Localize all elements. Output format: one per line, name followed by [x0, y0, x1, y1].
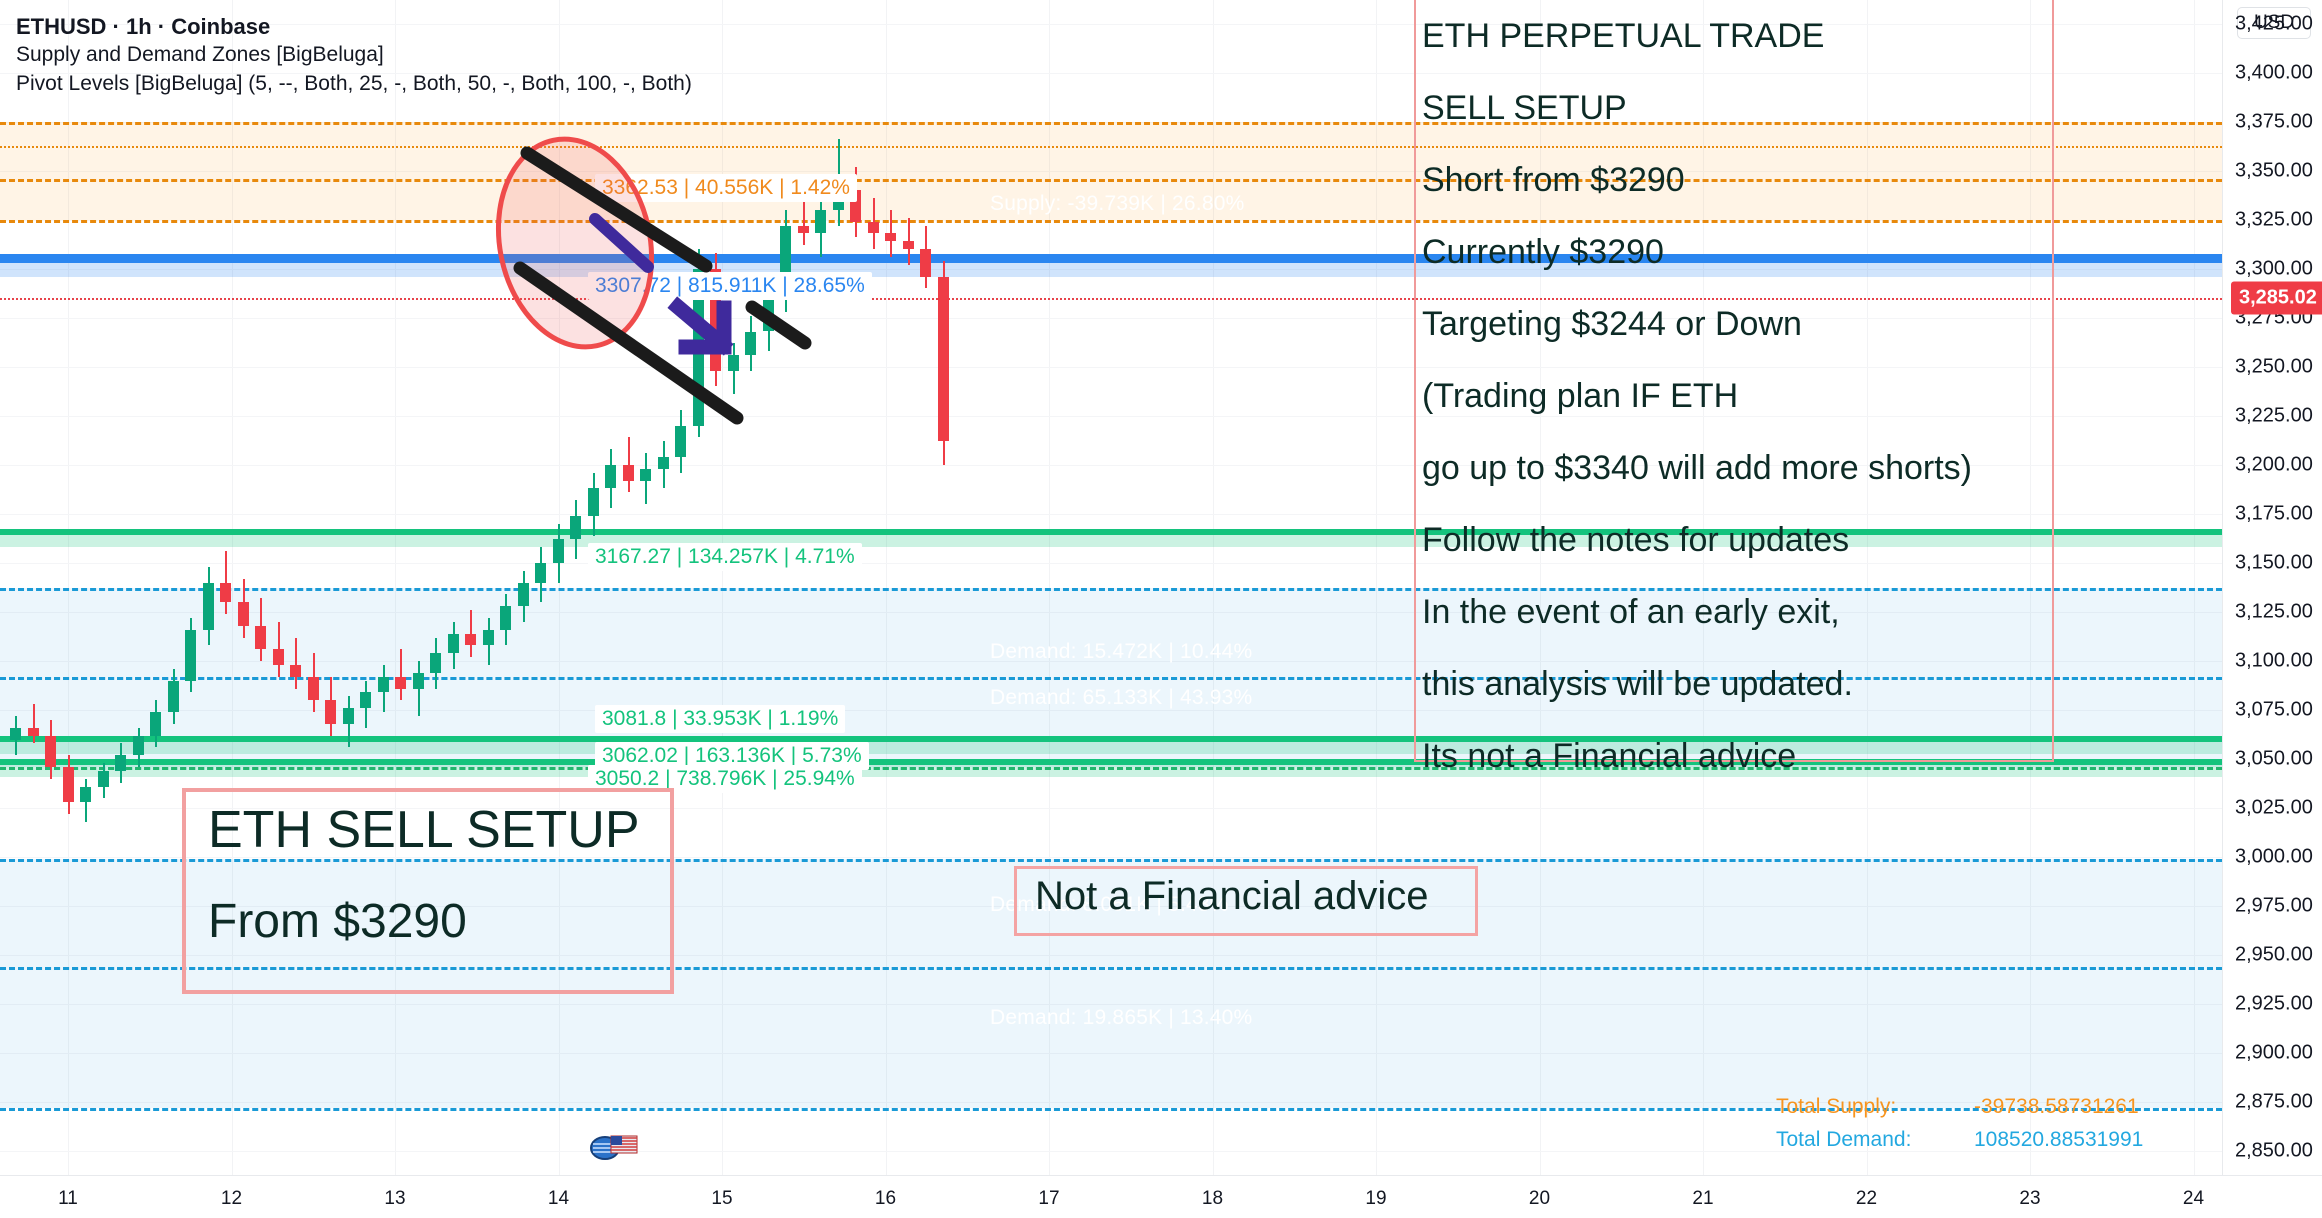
candle-wick	[400, 649, 402, 700]
trade-note-line: Its not a Financial advice	[1422, 720, 1972, 792]
candle-body	[98, 771, 109, 787]
trade-notes-block: ETH PERPETUAL TRADESELL SETUPShort from …	[1422, 0, 1972, 792]
trade-note-line: (Trading plan IF ETH	[1422, 360, 1972, 432]
total-supply-label: Total Supply:	[1776, 1090, 1956, 1124]
legend-indicator-pivot-levels[interactable]: Pivot Levels [BigBeluga] (5, --, Both, 2…	[16, 70, 692, 98]
trade-note-line: this analysis will be updated.	[1422, 648, 1972, 720]
candle-body	[868, 222, 879, 234]
time-tick-label: 11	[58, 1188, 78, 1210]
trade-note-line: Currently $3290	[1422, 216, 1972, 288]
candle-body	[535, 563, 546, 583]
price-tick-label: 3,225.00	[2235, 404, 2313, 427]
candle-body	[640, 469, 651, 481]
price-tick-label: 3,300.00	[2235, 257, 2313, 280]
supply-zone-label: Supply: -39.739K | 26.80%	[990, 192, 1244, 216]
price-tick-label: 3,025.00	[2235, 797, 2313, 820]
trade-note-line: In the event of an early exit,	[1422, 576, 1972, 648]
time-tick-label: 15	[711, 1188, 732, 1210]
time-tick-label: 14	[548, 1188, 569, 1210]
price-tick-label: 2,850.00	[2235, 1140, 2313, 1163]
price-tick-label: 2,950.00	[2235, 944, 2313, 967]
candle-body	[448, 634, 459, 654]
time-tick-label: 23	[2019, 1188, 2040, 1210]
candle-body	[133, 736, 144, 756]
price-tick-label: 3,350.00	[2235, 159, 2313, 182]
price-tick-label: 3,250.00	[2235, 355, 2313, 378]
candle-body	[203, 583, 214, 630]
candle-body	[115, 755, 126, 771]
price-tick-label: 2,975.00	[2235, 895, 2313, 918]
price-axis[interactable]: USD 3,425.003,400.003,375.003,350.003,32…	[2222, 0, 2322, 1175]
disclaimer-text: Not a Financial advice	[1035, 874, 1429, 919]
candle-body	[570, 516, 581, 540]
time-tick-label: 20	[1529, 1188, 1550, 1210]
trade-note-line: Short from $3290	[1422, 144, 1972, 216]
candle-body	[938, 277, 949, 442]
time-tick-label: 22	[1856, 1188, 1877, 1210]
candle-body	[308, 677, 319, 701]
candle-body	[553, 539, 564, 563]
candle-body	[10, 728, 21, 740]
candle-body	[798, 226, 809, 234]
candle-body	[45, 736, 56, 767]
time-tick-label: 19	[1365, 1188, 1386, 1210]
price-tick-label: 3,325.00	[2235, 208, 2313, 231]
candle-body	[413, 673, 424, 689]
pivot-level-label: 3081.8 | 33.953K | 1.19%	[595, 705, 845, 733]
totals-panel: Total Supply: -39738.58731261 Total Dema…	[1776, 1090, 2204, 1157]
trade-note-line: ETH PERPETUAL TRADE	[1422, 0, 1972, 72]
time-tick-label: 12	[221, 1188, 242, 1210]
chart-plot-area[interactable]: Supply: -39.739K | 26.80%Demand: 15.472K…	[0, 0, 2222, 1175]
demand-zone-label: Demand: 65.133K | 43.93%	[990, 686, 1252, 710]
sell-setup-line1: ETH SELL SETUP	[208, 800, 640, 860]
price-tick-label: 3,400.00	[2235, 61, 2313, 84]
trade-note-line: Follow the notes for updates	[1422, 504, 1972, 576]
candle-body	[728, 355, 739, 371]
price-tick-label: 3,075.00	[2235, 699, 2313, 722]
time-tick-label: 18	[1202, 1188, 1223, 1210]
price-tick-label: 3,125.00	[2235, 601, 2313, 624]
time-tick-label: 24	[2183, 1188, 2204, 1210]
candle-body	[255, 626, 266, 650]
tradingview-chart-screen: Supply: -39.739K | 26.80%Demand: 15.472K…	[0, 0, 2322, 1217]
price-tick-label: 2,875.00	[2235, 1091, 2313, 1114]
candle-body	[605, 465, 616, 489]
candle-body	[28, 728, 39, 736]
candle-body	[325, 700, 336, 724]
flag-logo-icon	[585, 1128, 641, 1164]
demand-zone-label: Demand: 15.472K | 10.44%	[990, 640, 1252, 664]
price-tick-label: 2,925.00	[2235, 993, 2313, 1016]
demand-zone-label: Demand: 19.865K | 13.40%	[990, 1006, 1252, 1030]
pivot-level-label: 3307.72 | 815.911K | 28.65%	[588, 272, 872, 300]
time-axis[interactable]: 1112131415161718192021222324	[0, 1175, 2322, 1218]
price-tick-label: 3,100.00	[2235, 650, 2313, 673]
sell-setup-callout-box: ETH SELL SETUP From $3290	[182, 788, 674, 994]
candle-body	[483, 630, 494, 646]
candle-body	[763, 296, 774, 331]
sell-setup-line2: From $3290	[208, 894, 467, 949]
candle-body	[168, 681, 179, 712]
candle-body	[815, 210, 826, 234]
candle-body	[395, 677, 406, 689]
price-tick-label: 3,200.00	[2235, 453, 2313, 476]
total-demand-row: Total Demand: 108520.88531991	[1776, 1123, 2204, 1157]
candle-body	[885, 233, 896, 241]
candle-wick	[33, 704, 35, 743]
candle-body	[63, 767, 74, 802]
candle-body	[675, 426, 686, 457]
candle-body	[185, 630, 196, 681]
candle-body	[518, 583, 529, 607]
price-tick-label: 3,375.00	[2235, 110, 2313, 133]
price-tick-label: 3,175.00	[2235, 502, 2313, 525]
legend-symbol[interactable]: ETHUSD · 1h · Coinbase	[16, 12, 692, 41]
price-tick-label: 2,900.00	[2235, 1042, 2313, 1065]
candle-body	[238, 602, 249, 626]
price-tick-label: 3,050.00	[2235, 748, 2313, 771]
candle-body	[290, 665, 301, 677]
candle-body	[903, 241, 914, 249]
candle-body	[378, 677, 389, 693]
candle-body	[360, 692, 371, 708]
trade-note-line: SELL SETUP	[1422, 72, 1972, 144]
candle-body	[80, 787, 91, 803]
legend-indicator-supply-demand[interactable]: Supply and Demand Zones [BigBeluga]	[16, 41, 692, 69]
candle-body	[588, 488, 599, 515]
disclaimer-callout-box: Not a Financial advice	[1014, 866, 1478, 936]
time-tick-label: 17	[1038, 1188, 1059, 1210]
price-tick-label: 3,150.00	[2235, 551, 2313, 574]
price-tick-label: 3,425.00	[2235, 12, 2313, 35]
candle-body	[150, 712, 161, 736]
candle-body	[745, 332, 756, 356]
candle-body	[343, 708, 354, 724]
pivot-level-label: 3167.27 | 134.257K | 4.71%	[588, 543, 862, 571]
candle-body	[623, 465, 634, 481]
candle-body	[273, 649, 284, 665]
trade-note-line: Targeting $3244 or Down	[1422, 288, 1972, 360]
total-demand-label: Total Demand:	[1776, 1123, 1956, 1157]
candle-body	[500, 606, 511, 630]
time-tick-label: 16	[875, 1188, 896, 1210]
candle-body	[465, 634, 476, 646]
time-tick-label: 13	[384, 1188, 405, 1210]
candle-body	[920, 249, 931, 276]
time-tick-label: 21	[1692, 1188, 1713, 1210]
total-supply-row: Total Supply: -39738.58731261	[1776, 1090, 2204, 1124]
total-demand-value: 108520.88531991	[1974, 1123, 2204, 1157]
price-tick-label: 3,000.00	[2235, 846, 2313, 869]
candle-body	[220, 583, 231, 603]
chart-legend: ETHUSD · 1h · Coinbase Supply and Demand…	[16, 12, 692, 98]
pivot-level-label: 3362.53 | 40.556K | 1.42%	[595, 174, 857, 202]
current-price-badge[interactable]: 3,285.02	[2231, 282, 2322, 315]
candle-wick	[295, 638, 297, 689]
candle-body	[430, 653, 441, 673]
candle-body	[658, 457, 669, 469]
trade-note-line: go up to $3340 will add more shorts)	[1422, 432, 1972, 504]
total-supply-value: -39738.58731261	[1974, 1090, 2204, 1124]
